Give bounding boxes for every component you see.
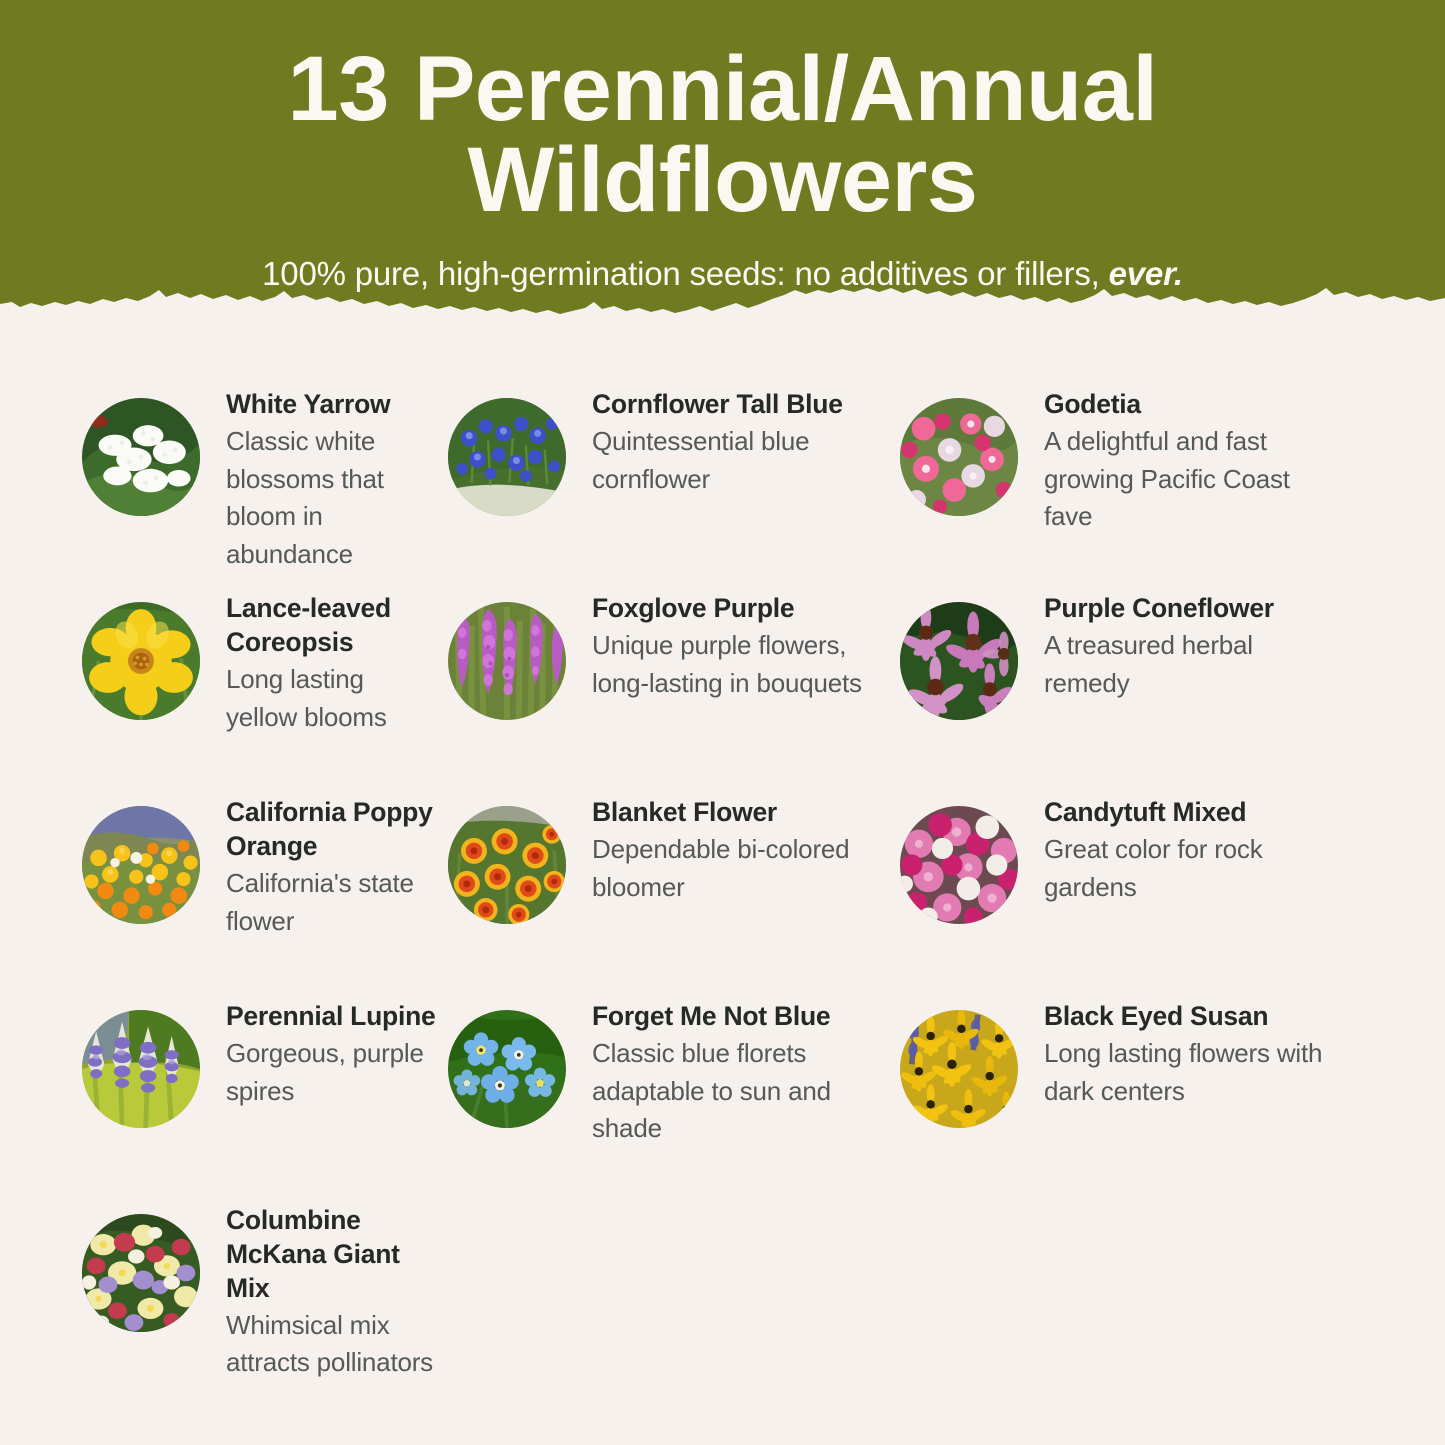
flower-info: Purple Coneflower A treasured herbal rem… <box>1044 588 1334 702</box>
flower-info: Foxglove Purple Unique purple flowers, l… <box>592 588 888 702</box>
foxglove-purple-photo <box>448 602 566 720</box>
flower-item-white-yarrow: White Yarrow Classic white blossoms that… <box>0 384 440 574</box>
flower-info: California Poppy Orange California's sta… <box>226 792 440 940</box>
columbine-mckana-giant-mix-photo <box>82 1214 200 1332</box>
flower-description: Unique purple flowers, long-lasting in b… <box>592 627 888 702</box>
flower-grid: White Yarrow Classic white blossoms that… <box>0 384 1445 1390</box>
page-title-line-2: Wildflowers <box>468 129 978 231</box>
forget-me-not-blue-photo <box>448 1010 566 1128</box>
flower-name: White Yarrow <box>226 388 440 422</box>
flower-info: Cornflower Tall Blue Quintessential blue… <box>592 384 888 498</box>
flower-name: Lance-leaved Coreopsis <box>226 592 440 660</box>
page-title: 13 Perennial/Annual Wildflowers <box>0 44 1445 226</box>
flower-item-purple-coneflower: Purple Coneflower A treasured herbal rem… <box>890 588 1360 778</box>
white-yarrow-photo <box>82 398 200 516</box>
candytuft-mixed-photo <box>900 806 1018 924</box>
flower-info: Candytuft Mixed Great color for rock gar… <box>1044 792 1334 906</box>
flower-item-foxglove-purple: Foxglove Purple Unique purple flowers, l… <box>440 588 890 778</box>
torn-paper-edge-icon <box>0 278 1445 322</box>
flower-description: Classic blue florets adaptable to sun an… <box>592 1035 888 1148</box>
header-banner: 13 Perennial/Annual Wildflowers 100% pur… <box>0 0 1445 322</box>
flower-description: California's state flower <box>226 865 440 940</box>
blanket-flower-photo <box>448 806 566 924</box>
cornflower-tall-blue-photo <box>448 398 566 516</box>
flower-description: A delightful and fast growing Pacific Co… <box>1044 423 1334 536</box>
flower-item-california-poppy-orange: California Poppy Orange California's sta… <box>0 792 440 982</box>
flower-item-columbine-mckana-giant-mix: Columbine McKana Giant Mix Whimsical mix… <box>0 1200 440 1390</box>
perennial-lupine-photo <box>82 1010 200 1128</box>
flower-name: Candytuft Mixed <box>1044 796 1334 830</box>
flower-row: Columbine McKana Giant Mix Whimsical mix… <box>0 1200 1445 1390</box>
flower-item-perennial-lupine: Perennial Lupine Gorgeous, purple spires <box>0 996 440 1186</box>
godetia-photo <box>900 398 1018 516</box>
flower-name: Purple Coneflower <box>1044 592 1334 626</box>
flower-description: Quintessential blue cornflower <box>592 423 888 498</box>
flower-row: Lance-leaved Coreopsis Long lasting yell… <box>0 588 1445 778</box>
flower-info: White Yarrow Classic white blossoms that… <box>226 384 440 574</box>
flower-description: Classic white blossoms that bloom in abu… <box>226 423 440 574</box>
flower-description: A treasured herbal remedy <box>1044 627 1334 702</box>
flower-item-forget-me-not-blue: Forget Me Not Blue Classic blue florets … <box>440 996 890 1186</box>
flower-name: Foxglove Purple <box>592 592 888 626</box>
flower-item-godetia: Godetia A delightful and fast growing Pa… <box>890 384 1360 574</box>
flower-name: Columbine McKana Giant Mix <box>226 1204 440 1306</box>
black-eyed-susan-photo <box>900 1010 1018 1128</box>
flower-description: Long lasting yellow blooms <box>226 661 440 736</box>
flower-info: Lance-leaved Coreopsis Long lasting yell… <box>226 588 440 736</box>
flower-description: Long lasting flowers with dark centers <box>1044 1035 1334 1110</box>
flower-name: California Poppy Orange <box>226 796 440 864</box>
flower-name: Cornflower Tall Blue <box>592 388 888 422</box>
flower-row: California Poppy Orange California's sta… <box>0 792 1445 982</box>
california-poppy-orange-photo <box>82 806 200 924</box>
flower-item-black-eyed-susan: Black Eyed Susan Long lasting flowers wi… <box>890 996 1360 1186</box>
flower-description: Whimsical mix attracts pollinators <box>226 1307 440 1382</box>
page-title-line-1: 13 Perennial/Annual <box>288 38 1158 140</box>
flower-description: Gorgeous, purple spires <box>226 1035 440 1110</box>
flower-info: Forget Me Not Blue Classic blue florets … <box>592 996 888 1148</box>
flower-item-blanket-flower: Blanket Flower Dependable bi-colored blo… <box>440 792 890 982</box>
flower-info: Perennial Lupine Gorgeous, purple spires <box>226 996 440 1110</box>
flower-description: Dependable bi-colored bloomer <box>592 831 888 906</box>
flower-info: Black Eyed Susan Long lasting flowers wi… <box>1044 996 1334 1110</box>
flower-name: Blanket Flower <box>592 796 888 830</box>
flower-name: Black Eyed Susan <box>1044 1000 1334 1034</box>
flower-item-lance-leaved-coreopsis: Lance-leaved Coreopsis Long lasting yell… <box>0 588 440 778</box>
flower-name: Perennial Lupine <box>226 1000 440 1034</box>
flower-info: Blanket Flower Dependable bi-colored blo… <box>592 792 888 906</box>
flower-item-cornflower-tall-blue: Cornflower Tall Blue Quintessential blue… <box>440 384 890 574</box>
flower-name: Forget Me Not Blue <box>592 1000 888 1034</box>
flower-name: Godetia <box>1044 388 1334 422</box>
flower-info: Godetia A delightful and fast growing Pa… <box>1044 384 1334 536</box>
flower-row: Perennial Lupine Gorgeous, purple spires <box>0 996 1445 1186</box>
wildflower-poster: 13 Perennial/Annual Wildflowers 100% pur… <box>0 0 1445 1445</box>
lance-leaved-coreopsis-photo <box>82 602 200 720</box>
flower-row: White Yarrow Classic white blossoms that… <box>0 384 1445 574</box>
flower-description: Great color for rock gardens <box>1044 831 1334 906</box>
flower-item-candytuft-mixed: Candytuft Mixed Great color for rock gar… <box>890 792 1360 982</box>
flower-info: Columbine McKana Giant Mix Whimsical mix… <box>226 1200 440 1382</box>
purple-coneflower-photo <box>900 602 1018 720</box>
